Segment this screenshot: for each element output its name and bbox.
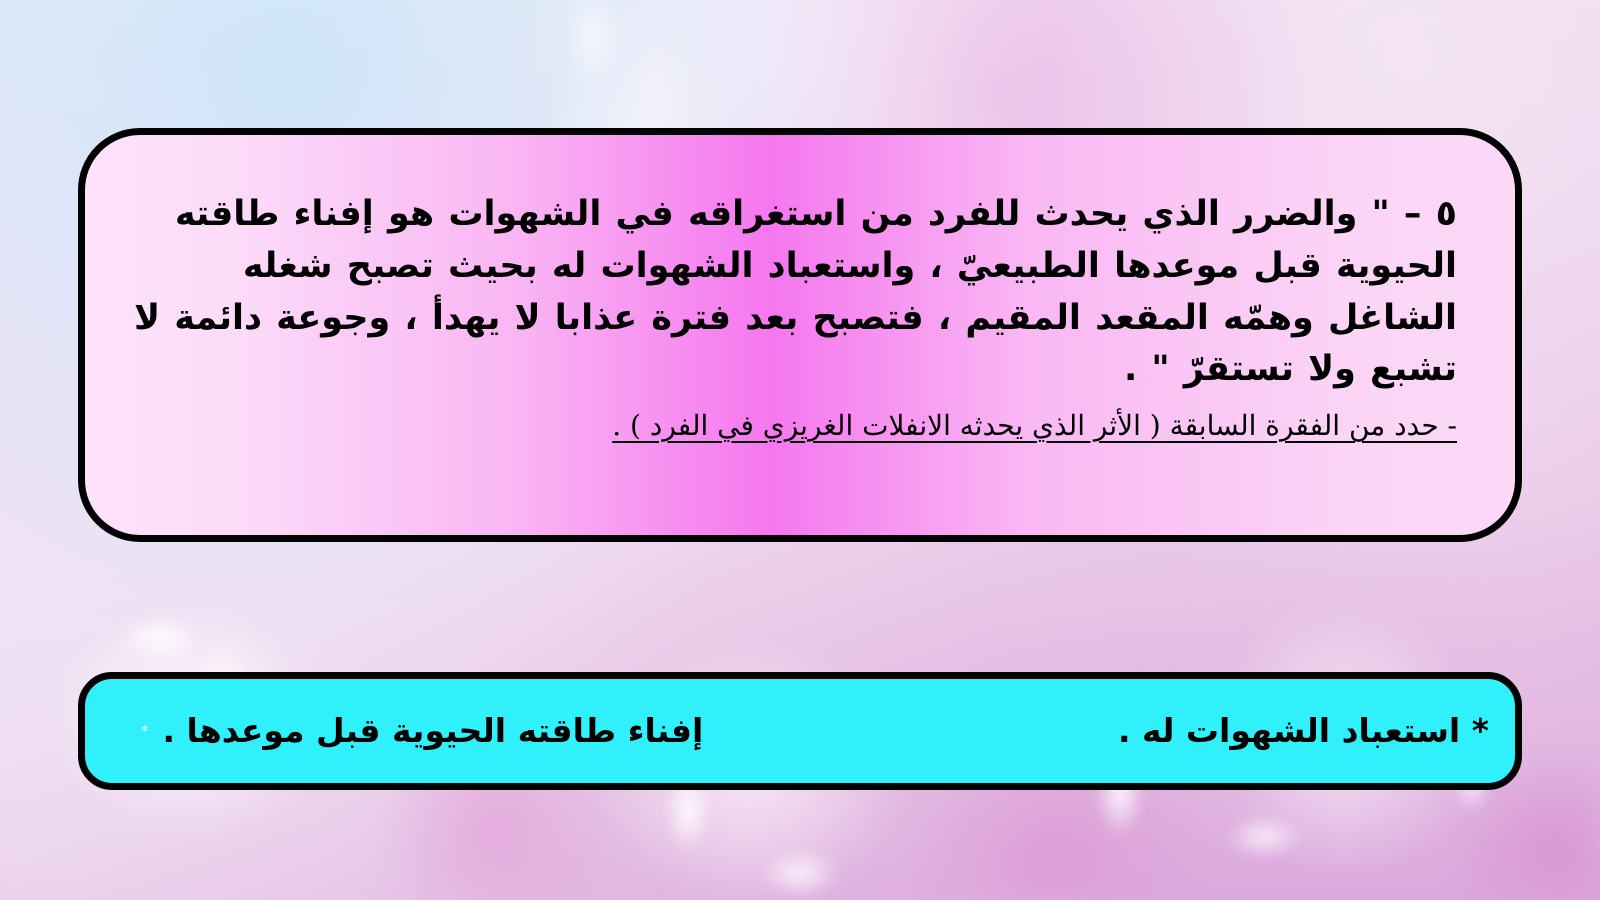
quote-line-4: تشبع ولا تستقرّ " . <box>143 344 1457 396</box>
quote-line-3: الشاغل وهمّه المقعد المقيم ، فتصبح بعد ف… <box>143 293 1457 345</box>
quote-panel: ٥ – " والضرر الذي يحدث للفرد من استغراقه… <box>78 128 1522 542</box>
answer-right-group: إفناء طاقته الحيوية قبل موعدها . * <box>141 711 703 751</box>
quote-line-2: الحيوية قبل موعدها الطبيعيّ ، واستعباد ا… <box>143 241 1457 293</box>
question-prompt: - حدد من الفقرة السابقة ( الأثر الذي يحد… <box>143 408 1457 444</box>
answer-left: * استعباد الشهوات له . <box>1118 711 1489 751</box>
slide-canvas: ٥ – " والضرر الذي يحدث للفرد من استغراقه… <box>0 0 1600 900</box>
asterisk-marker-icon: * <box>141 722 149 740</box>
quote-line-1: ٥ – " والضرر الذي يحدث للفرد من استغراقه… <box>143 189 1457 241</box>
answer-right: إفناء طاقته الحيوية قبل موعدها . <box>163 711 704 751</box>
question-prompt-text: - حدد من الفقرة السابقة ( الأثر الذي يحد… <box>612 409 1457 442</box>
answer-panel: * استعباد الشهوات له . إفناء طاقته الحيو… <box>78 672 1522 790</box>
quote-text-block: ٥ – " والضرر الذي يحدث للفرد من استغراقه… <box>143 189 1457 396</box>
